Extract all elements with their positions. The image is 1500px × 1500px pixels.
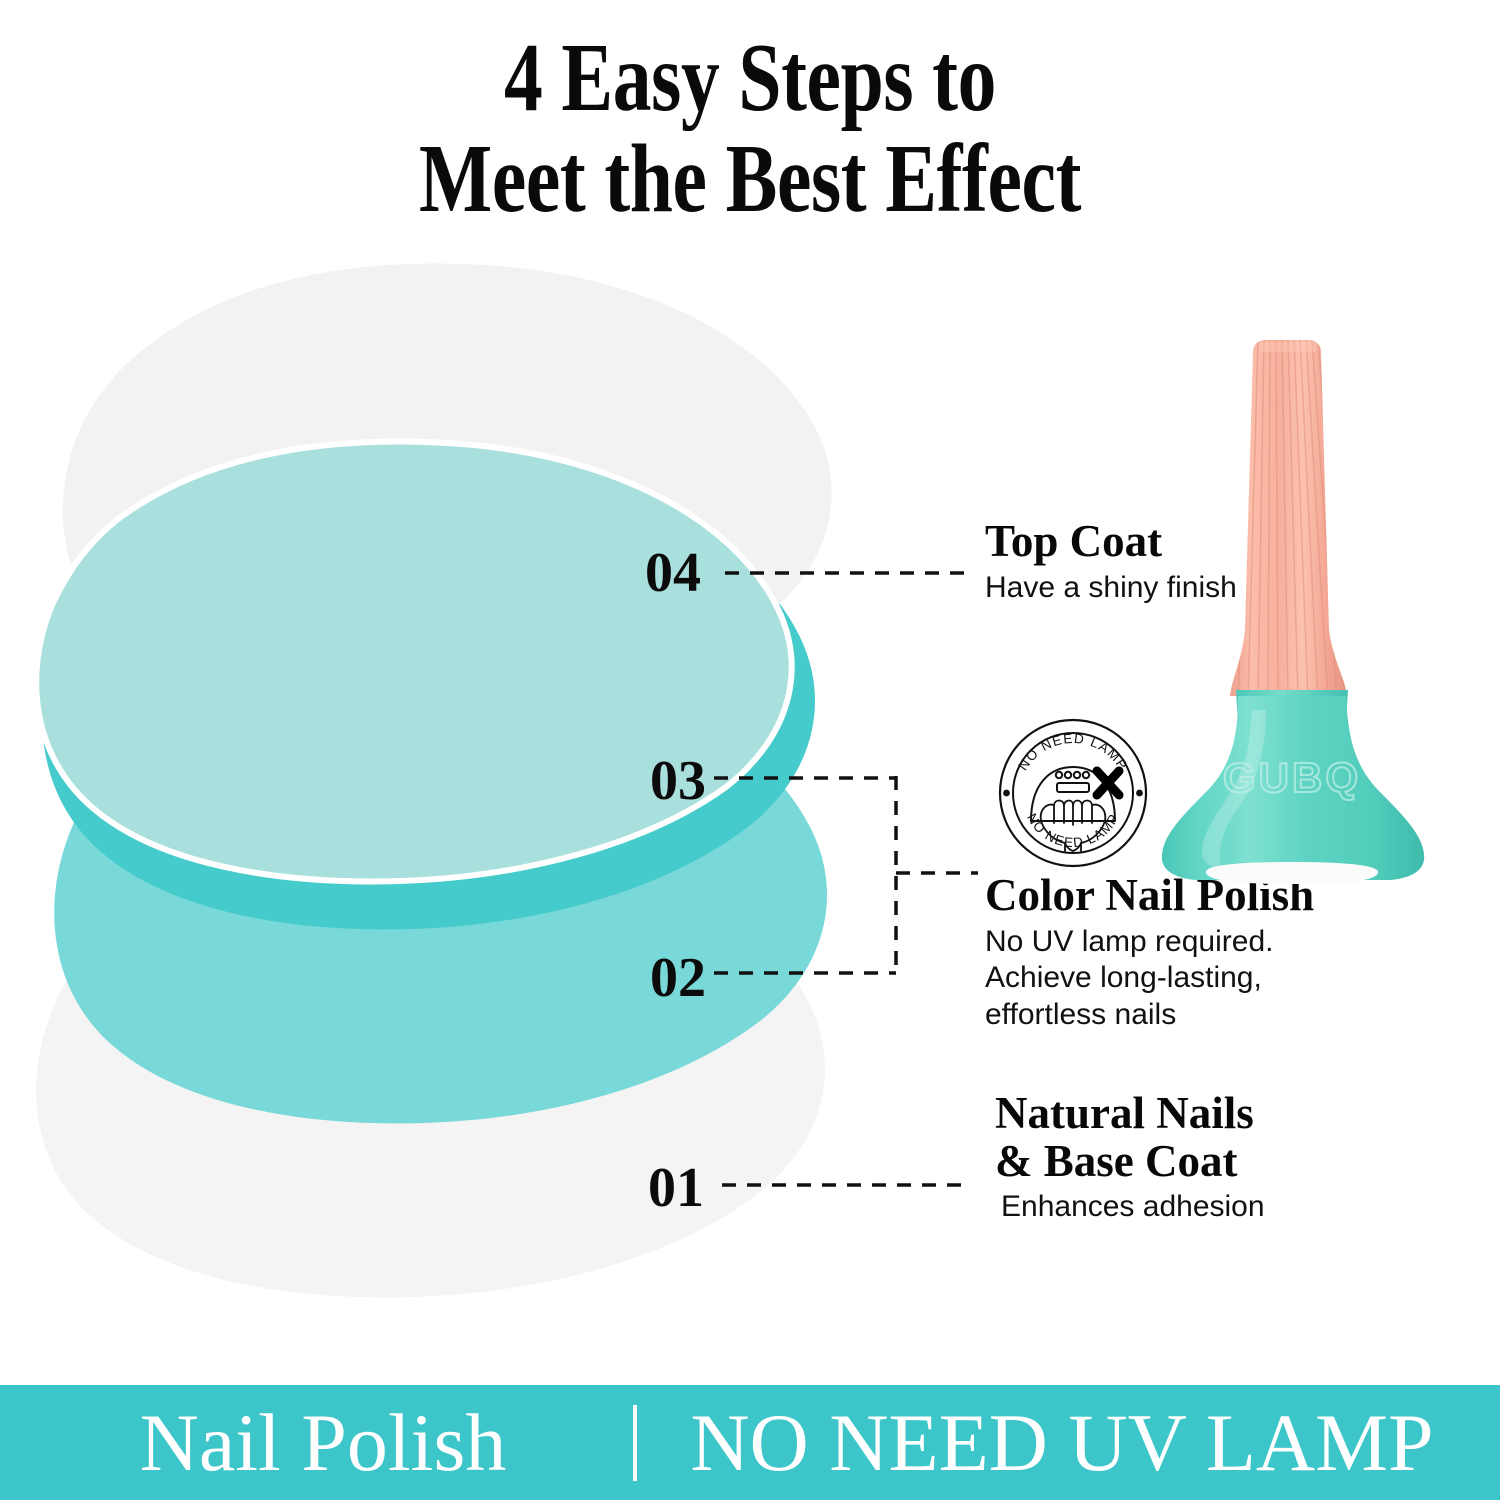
no-need-lamp-badge: NO NEED LAMP NO NEED LAMP [997, 717, 1149, 869]
title-line-1: 4 Easy Steps to [150, 30, 1350, 125]
callout-color-desc-line-2: Achieve long-lasting, [985, 960, 1314, 997]
bottle-base [1206, 862, 1378, 884]
callout-natural-nails-heading-line-1: Natural Nails [995, 1090, 1265, 1138]
badge-dot-left [1003, 790, 1010, 797]
banner-right-text: NO NEED UV LAMP [690, 1397, 1433, 1488]
bottom-banner: Nail Polish NO NEED UV LAMP [0, 1385, 1500, 1500]
page-title: 4 Easy Steps to Meet the Best Effect [0, 30, 1500, 226]
bottle-cap [1230, 338, 1347, 700]
banner-divider [633, 1405, 637, 1481]
banner-left-text: Nail Polish [140, 1397, 507, 1488]
title-line-2: Meet the Best Effect [150, 131, 1350, 226]
callout-natural-nails-heading: Natural Nails & Base Coat [995, 1090, 1265, 1185]
callout-color-desc-line-3: effortless nails [985, 997, 1314, 1034]
callout-color-nail-polish-desc: No UV lamp required. Achieve long-lastin… [985, 924, 1314, 1034]
bottle-body: GUBQ [1162, 696, 1424, 884]
step-number-01: 01 [648, 1160, 704, 1216]
cross-out-icon [1097, 771, 1119, 795]
bottle-brand-emboss: GUBQ [1223, 754, 1361, 801]
callout-natural-nails-desc-line-1: Enhances adhesion [1001, 1189, 1265, 1226]
callout-color-nail-polish: Color Nail Polish No UV lamp required. A… [985, 872, 1314, 1033]
infographic-canvas: 4 Easy Steps to Meet the Best Effect [0, 0, 1500, 1500]
callout-natural-nails: Natural Nails & Base Coat Enhances adhes… [995, 1090, 1265, 1226]
step-number-04: 04 [645, 545, 701, 601]
step-number-02: 02 [650, 950, 706, 1006]
nail-layer-stack [0, 255, 900, 1315]
callout-color-desc-line-1: No UV lamp required. [985, 924, 1314, 961]
nail-polish-bottle: GUBQ [1140, 330, 1470, 890]
callout-natural-nails-desc: Enhances adhesion [1001, 1189, 1265, 1226]
callout-natural-nails-heading-line-2: & Base Coat [995, 1138, 1265, 1186]
step-number-03: 03 [650, 753, 706, 809]
